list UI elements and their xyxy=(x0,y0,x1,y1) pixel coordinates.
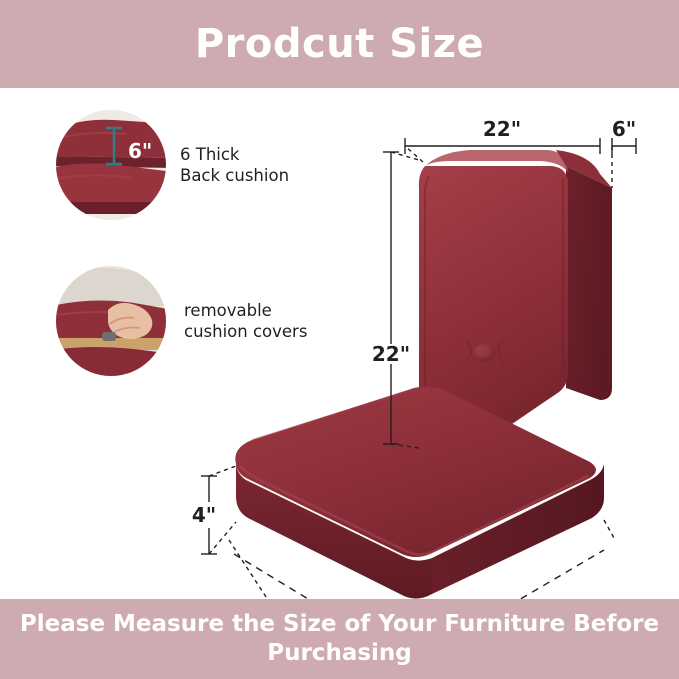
feature-back-cushion-thickness: 6" 6 Thick Back cushion xyxy=(56,110,289,220)
footer-text-line-2: Purchasing xyxy=(267,639,412,668)
dimension-label-back-width: 22" xyxy=(483,117,521,141)
header-banner: Prodcut Size xyxy=(0,0,679,88)
feature-thumbnail-stacked-cushions: 6" xyxy=(56,110,166,220)
feature-thumbnail-zipper-hand xyxy=(56,266,166,376)
feature-label-back-cushion: 6 Thick Back cushion xyxy=(180,144,289,186)
dimension-label-back-thickness: 6" xyxy=(612,117,636,141)
page-title: Prodcut Size xyxy=(195,24,484,64)
footer-banner: Please Measure the Size of Your Furnitur… xyxy=(0,599,679,679)
tufting-button-highlight xyxy=(478,347,490,356)
back-cushion-side xyxy=(566,166,612,400)
illustration-canvas: 22" 6" 22" 4" 22" 24" xyxy=(0,88,679,599)
footer-text-line-1: Please Measure the Size of Your Furnitur… xyxy=(20,610,659,639)
feature-removable-covers: removable cushion covers xyxy=(56,266,307,376)
dimension-label-seat-thickness: 4" xyxy=(192,503,216,527)
feature-label-removable-covers: removable cushion covers xyxy=(184,300,307,342)
dimension-label-back-height: 22" xyxy=(372,342,410,366)
product-size-infographic: Prodcut Size xyxy=(0,0,679,679)
svg-text:6": 6" xyxy=(128,139,152,163)
